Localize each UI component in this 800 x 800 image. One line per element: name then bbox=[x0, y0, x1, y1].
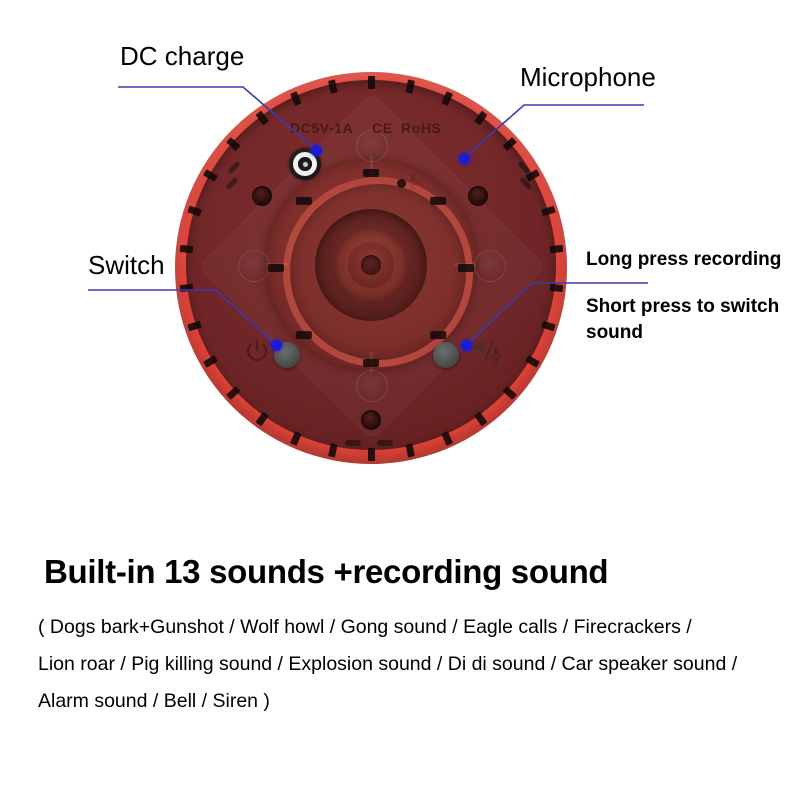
screw-hole-top-left bbox=[252, 186, 272, 206]
marker-dot-microphone bbox=[459, 153, 470, 164]
mount-lug-right bbox=[474, 250, 506, 282]
cone-tab bbox=[363, 359, 379, 367]
mount-lug-left bbox=[238, 250, 270, 282]
speaker-cone-center bbox=[361, 255, 381, 275]
marker-dot-switch bbox=[271, 340, 282, 351]
rim-tick bbox=[368, 76, 375, 89]
screw-hole-top-right bbox=[468, 186, 488, 206]
sound-list-line: ( Dogs bark+Gunshot / Wolf howl / Gong s… bbox=[38, 616, 692, 639]
rim-tick bbox=[549, 244, 563, 252]
sound-switch-button[interactable] bbox=[433, 342, 459, 368]
callout-label-microphone: Microphone bbox=[520, 62, 656, 93]
marker-dot-dc-charge bbox=[311, 145, 322, 156]
silkscreen-rohs-mark: RoHS bbox=[401, 120, 442, 136]
cone-tab bbox=[458, 264, 474, 272]
sound-list-line: Alarm sound / Bell / Siren ) bbox=[38, 690, 270, 713]
screw-hole-bottom bbox=[361, 410, 381, 430]
rim-tick bbox=[179, 283, 193, 291]
cone-tab bbox=[430, 331, 446, 339]
microphone-glyph-icon bbox=[408, 173, 418, 191]
dc-jack-pin bbox=[303, 162, 308, 167]
marker-dot-press bbox=[461, 340, 472, 351]
callout-label-switch: Switch bbox=[88, 250, 165, 281]
section-headline: Built-in 13 sounds +recording sound bbox=[44, 553, 608, 591]
microphone-icon bbox=[397, 179, 406, 188]
silkscreen-ce-mark: CE bbox=[372, 120, 393, 136]
cone-tab bbox=[296, 197, 312, 205]
product-infographic: DC5V-1A CE RoHS bbox=[0, 0, 800, 800]
cone-tab bbox=[268, 264, 284, 272]
sound-list-section: Built-in 13 sounds +recording sound ( Do… bbox=[0, 500, 800, 800]
silkscreen-power-rating: DC5V-1A bbox=[290, 120, 353, 136]
vent-slot-left-1 bbox=[226, 159, 242, 175]
callout-label-long-press: Long press recording bbox=[586, 249, 781, 271]
vent-slot-bottom-1 bbox=[344, 439, 362, 447]
power-icon bbox=[244, 338, 270, 364]
vent-slot-bottom-2 bbox=[376, 439, 394, 447]
speaker-device: DC5V-1A CE RoHS bbox=[175, 72, 567, 464]
device-bottom-face: DC5V-1A CE RoHS bbox=[186, 80, 556, 450]
cone-tab bbox=[296, 331, 312, 339]
rim-tick bbox=[549, 283, 563, 291]
sound-list-line: Lion roar / Pig killing sound / Explosio… bbox=[38, 653, 737, 676]
rim-tick bbox=[179, 244, 193, 252]
product-photo: DC5V-1A CE RoHS bbox=[0, 0, 800, 500]
callout-label-dc-charge: DC charge bbox=[120, 41, 244, 72]
vent-slot-left-2 bbox=[224, 175, 240, 191]
cone-tab bbox=[363, 169, 379, 177]
cone-tab bbox=[430, 197, 446, 205]
mount-lug-bottom bbox=[356, 370, 388, 402]
rim-tick bbox=[368, 448, 375, 461]
callout-label-short-press: Short press to switch sound bbox=[586, 294, 786, 345]
speaker-mic-icon bbox=[468, 335, 504, 367]
